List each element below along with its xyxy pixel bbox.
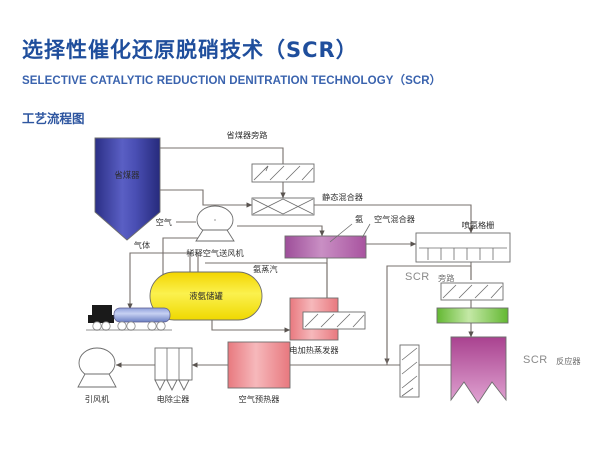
air-label: 空气 <box>156 217 172 227</box>
tanker-truck[interactable] <box>86 305 172 330</box>
ammonia-tank-label: 液氨储罐 <box>189 291 223 301</box>
id-fan-label: 引风机 <box>85 394 110 404</box>
induced-draft-fan[interactable] <box>78 348 116 387</box>
process-flow-diagram: 省煤器 省煤器旁路 静态混合器 空气 稀释空气送风机 氨 <box>0 120 600 450</box>
injection-grid-label: 喷氨格栅 <box>462 220 495 230</box>
economizer-node[interactable]: 省煤器 <box>95 138 160 240</box>
catalyst-layer[interactable] <box>437 308 508 323</box>
esp-label: 电除尘器 <box>157 394 190 404</box>
economizer-bypass-label: 省煤器旁路 <box>227 130 268 140</box>
electrostatic-precipitator[interactable] <box>155 348 192 390</box>
static-mixer-label: 静态混合器 <box>322 192 363 202</box>
economizer-shape <box>95 138 160 240</box>
scr-bypass-label-en: SCR <box>405 271 430 283</box>
ammonia-vapor-label: 氨蒸汽 <box>253 264 278 274</box>
scr-reactor-label-zh: 反应器 <box>556 356 581 366</box>
dilution-air-fan[interactable] <box>196 206 234 241</box>
air-mixer-label: 空气混合器 <box>374 214 415 224</box>
scr-inlet-damper[interactable] <box>303 312 365 329</box>
economizer-label: 省煤器 <box>114 170 140 180</box>
bypass-damper[interactable] <box>252 164 314 182</box>
slide-canvas: 选择性催化还原脱硝技术（SCR） SELECTIVE CATALYTIC RED… <box>0 0 600 450</box>
scr-reactor-label-en: SCR <box>523 354 548 366</box>
air-preheater[interactable] <box>228 342 290 388</box>
page-subtitle: SELECTIVE CATALYTIC REDUCTION DENITRATIO… <box>22 72 441 88</box>
scr-bypass-label-zh: 旁路 <box>438 273 454 283</box>
ammonia-injection-grid[interactable] <box>416 233 510 262</box>
page-title: 选择性催化还原脱硝技术（SCR） <box>22 34 358 64</box>
ammonia-air-mixer[interactable] <box>285 236 366 258</box>
dilution-air-fan-label: 稀释空气送风机 <box>186 248 244 258</box>
scr-bypass-damper[interactable] <box>441 283 503 300</box>
static-mixer[interactable] <box>252 198 314 215</box>
electric-evaporator-label: 电加热蒸发器 <box>289 345 338 355</box>
scr-outlet-damper[interactable] <box>400 345 419 397</box>
scr-reactor[interactable] <box>451 337 506 403</box>
gas-label: 气体 <box>134 240 150 250</box>
air-preheater-label: 空气预热器 <box>239 394 280 404</box>
ammonia-label: 氨 <box>355 214 363 224</box>
